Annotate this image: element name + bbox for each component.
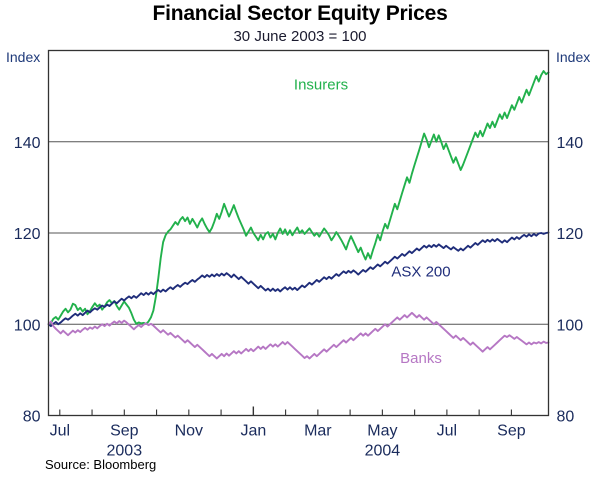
series-lines bbox=[49, 71, 549, 358]
x-tick-label-Jul: Jul bbox=[50, 423, 70, 440]
y-tick-label-right-140: 140 bbox=[557, 135, 584, 152]
series-line-insurers bbox=[49, 71, 549, 324]
y-tick-label-right-120: 120 bbox=[557, 226, 584, 243]
y-axis-unit-left: Index bbox=[6, 49, 40, 65]
y-axis-labels-right: 80100120140 bbox=[557, 135, 584, 426]
series-line-asx-200 bbox=[49, 233, 549, 327]
chart-figure: Financial Sector Equity Prices 30 June 2… bbox=[0, 0, 600, 478]
y-tick-label-left-80: 80 bbox=[23, 409, 41, 426]
series-label-asx-200: ASX 200 bbox=[391, 263, 450, 280]
y-tick-label-left-140: 140 bbox=[14, 135, 41, 152]
series-inline-labels: InsurersASX 200Banks bbox=[294, 76, 451, 367]
x-tick-label-Nov: Nov bbox=[175, 423, 203, 440]
series-line-banks bbox=[49, 313, 549, 359]
x-tick-label-Mar: Mar bbox=[304, 423, 332, 440]
x-tick-label-Sep: Sep bbox=[110, 423, 139, 440]
series-label-insurers: Insurers bbox=[294, 76, 348, 93]
y-tick-label-left-100: 100 bbox=[14, 317, 41, 334]
x-axis-labels: JulSepNovJanMarMayJulSep bbox=[50, 423, 526, 440]
y-tick-label-right-80: 80 bbox=[557, 409, 575, 426]
y-axis-unit-right: Index bbox=[556, 49, 590, 65]
x-tick-label-Jan: Jan bbox=[240, 423, 266, 440]
y-tick-label-left-120: 120 bbox=[14, 226, 41, 243]
x-tick-marks bbox=[60, 407, 512, 416]
y-tick-label-right-100: 100 bbox=[557, 317, 584, 334]
y-axis-labels-left: 80100120140 bbox=[14, 135, 41, 426]
x-tick-label-Jul: Jul bbox=[437, 423, 457, 440]
source-note: Source: Bloomberg bbox=[45, 457, 156, 472]
x-tick-label-May: May bbox=[367, 423, 397, 440]
chart-plot-area: 80100120140 80100120140 JulSepNovJanMarM… bbox=[0, 0, 600, 478]
gridlines bbox=[49, 142, 549, 325]
year-label-2004: 2004 bbox=[365, 443, 401, 460]
series-label-banks: Banks bbox=[400, 350, 442, 367]
x-tick-label-Sep: Sep bbox=[497, 423, 526, 440]
